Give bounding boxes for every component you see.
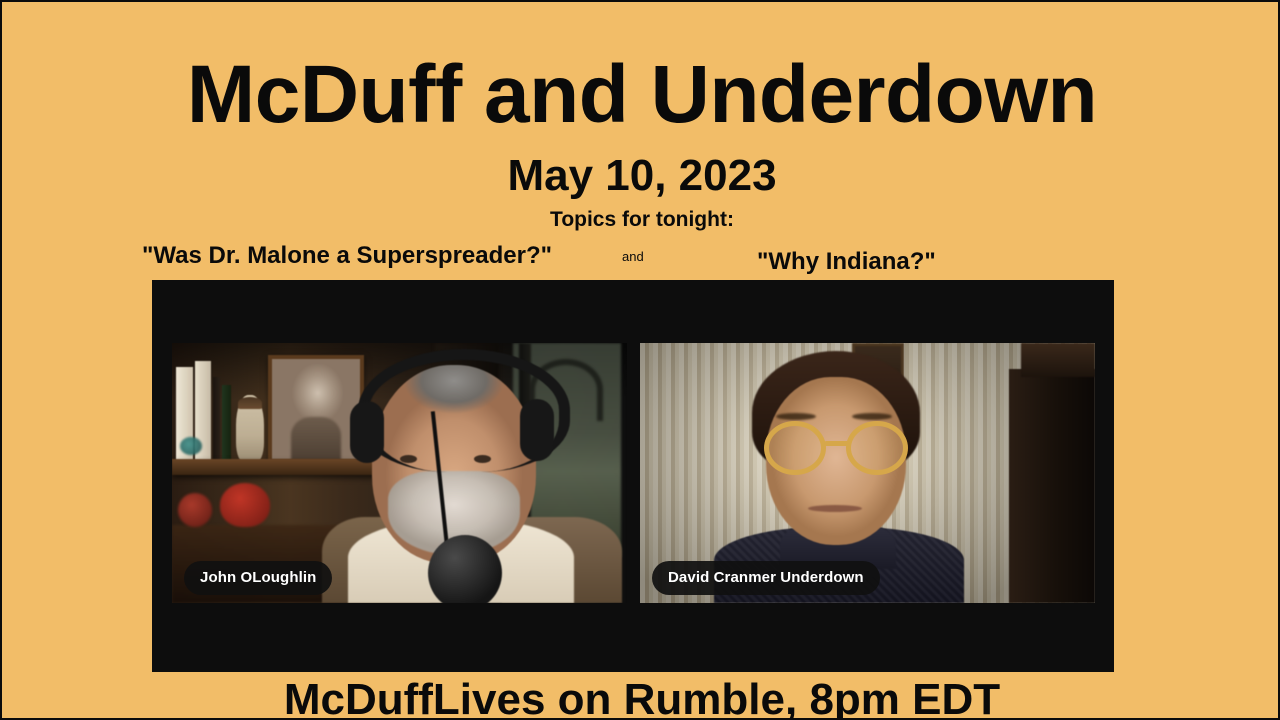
shelf-board xyxy=(172,459,380,475)
footer-broadcast-info: McDuffLives on Rumble, 8pm EDT xyxy=(2,674,1280,720)
topics-row: "Was Dr. Malone a Superspreader?" and "W… xyxy=(122,238,1162,278)
microphone-icon xyxy=(428,535,502,603)
topic-one: "Was Dr. Malone a Superspreader?" xyxy=(142,240,552,272)
portrait-photo xyxy=(272,359,360,459)
shelf-figurine xyxy=(236,395,264,463)
shelf-trinket xyxy=(180,437,202,455)
red-ornament xyxy=(178,493,212,527)
slide-canvas: McDuff and Underdown May 10, 2023 Topics… xyxy=(0,0,1280,720)
participant-name-right: David Cranmer Underdown xyxy=(652,561,880,595)
video-tile-right[interactable]: David Cranmer Underdown xyxy=(640,343,1095,603)
book xyxy=(176,367,193,473)
video-tile-left[interactable]: John OLoughlin xyxy=(172,343,627,603)
book xyxy=(195,361,211,473)
topic-two: "Why Indiana?" xyxy=(757,246,936,278)
red-ornament xyxy=(220,483,270,527)
eyeglasses-icon xyxy=(762,421,912,475)
video-stage: John OLoughlin David Cranmer xyxy=(152,280,1114,672)
book-stack xyxy=(172,355,240,473)
cabinet-top xyxy=(1021,343,1095,377)
eyebrow xyxy=(852,413,892,420)
headphone-earcup xyxy=(350,401,384,463)
headphone-earcup xyxy=(520,399,554,461)
participant-name-left: John OLoughlin xyxy=(184,561,332,595)
page-title: McDuff and Underdown xyxy=(2,50,1280,140)
topic-conjunction: and xyxy=(622,248,644,266)
eyeglass-lens xyxy=(764,421,826,475)
topics-heading: Topics for tonight: xyxy=(2,207,1280,233)
show-date: May 10, 2023 xyxy=(2,150,1280,202)
eyebrow xyxy=(776,413,816,420)
eyeglass-lens xyxy=(846,421,908,475)
wooden-cabinet xyxy=(1009,369,1095,603)
mouth xyxy=(808,505,862,512)
